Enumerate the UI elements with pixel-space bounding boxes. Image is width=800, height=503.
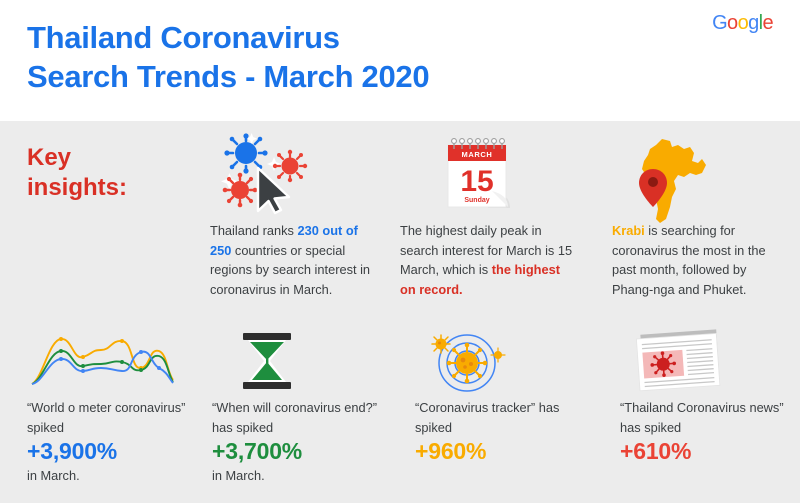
trend-worldometer-stat: +3,900% — [27, 437, 197, 466]
trend-worldometer-suffix: in March. — [27, 466, 197, 486]
trend-tracker-stat: +960% — [415, 437, 583, 466]
calendar-month-label: MARCH — [462, 150, 493, 159]
virus-radar-icon — [415, 330, 583, 392]
header: Thailand Coronavirus Search Trends - Mar… — [0, 0, 800, 121]
rank-text-part-2: countries or special regions by search i… — [210, 243, 370, 297]
trend-card-tracker: “Coronavirus tracker” has spiked +960% — [415, 330, 583, 466]
trend-end-stat: +3,700% — [212, 437, 384, 466]
insight-card-rank: Thailand ranks 230 out of 250 countries … — [210, 135, 380, 299]
trend-tracker-query: “Coronavirus tracker” has spiked — [415, 398, 583, 437]
google-logo-letter-e: e — [762, 12, 773, 34]
thailand-map-pin-icon — [612, 135, 784, 213]
trend-card-worldometer: “World o meter coronavirus” spiked +3,90… — [27, 330, 197, 486]
insight-card-krabi: Krabi is searching for coronavirus the m… — [612, 135, 784, 299]
insight-krabi-text: Krabi is searching for coronavirus the m… — [612, 221, 784, 299]
trend-end-query: “When will coronavirus end?” has spiked — [212, 398, 384, 437]
insight-rank-text: Thailand ranks 230 out of 250 countries … — [210, 221, 380, 299]
google-logo-letter-g2: g — [748, 12, 759, 34]
page-title: Thailand Coronavirus Search Trends - Mar… — [27, 18, 429, 96]
calendar-weekday-label: Sunday — [464, 197, 489, 204]
infographic-page: Thailand Coronavirus Search Trends - Mar… — [0, 0, 800, 503]
trend-news-stat: +610% — [620, 437, 792, 466]
trend-worldometer-query: “World o meter coronavirus” spiked — [27, 398, 197, 437]
google-logo-letter-o1: o — [727, 12, 738, 34]
insight-card-peak: MARCH 15 Sunday The highest daily peak i… — [400, 135, 578, 299]
krabi-text-part-0: Krabi — [612, 223, 645, 238]
virus-cursor-icon — [210, 135, 380, 213]
trend-lines-icon — [27, 330, 197, 392]
google-logo-letter-g1: G — [712, 12, 727, 34]
calendar-day-label: 15 — [460, 165, 493, 198]
rank-text-part-0: Thailand ranks — [210, 223, 298, 238]
trend-card-end: “When will coronavirus end?” has spiked … — [212, 330, 384, 486]
newspaper-virus-icon — [620, 330, 792, 392]
trend-news-query: “Thailand Coronavirus news” has spiked — [620, 398, 792, 437]
trend-end-suffix: in March. — [212, 466, 384, 486]
trend-card-news: “Thailand Coronavirus news” has spiked +… — [620, 330, 792, 466]
hourglass-icon — [212, 330, 384, 392]
insight-peak-text: The highest daily peak in search interes… — [400, 221, 578, 299]
google-logo-letter-o2: o — [738, 12, 749, 34]
calendar-icon: MARCH 15 Sunday — [400, 135, 578, 213]
key-insights-heading: Key insights: — [27, 143, 127, 203]
google-logo: Google — [712, 12, 773, 35]
